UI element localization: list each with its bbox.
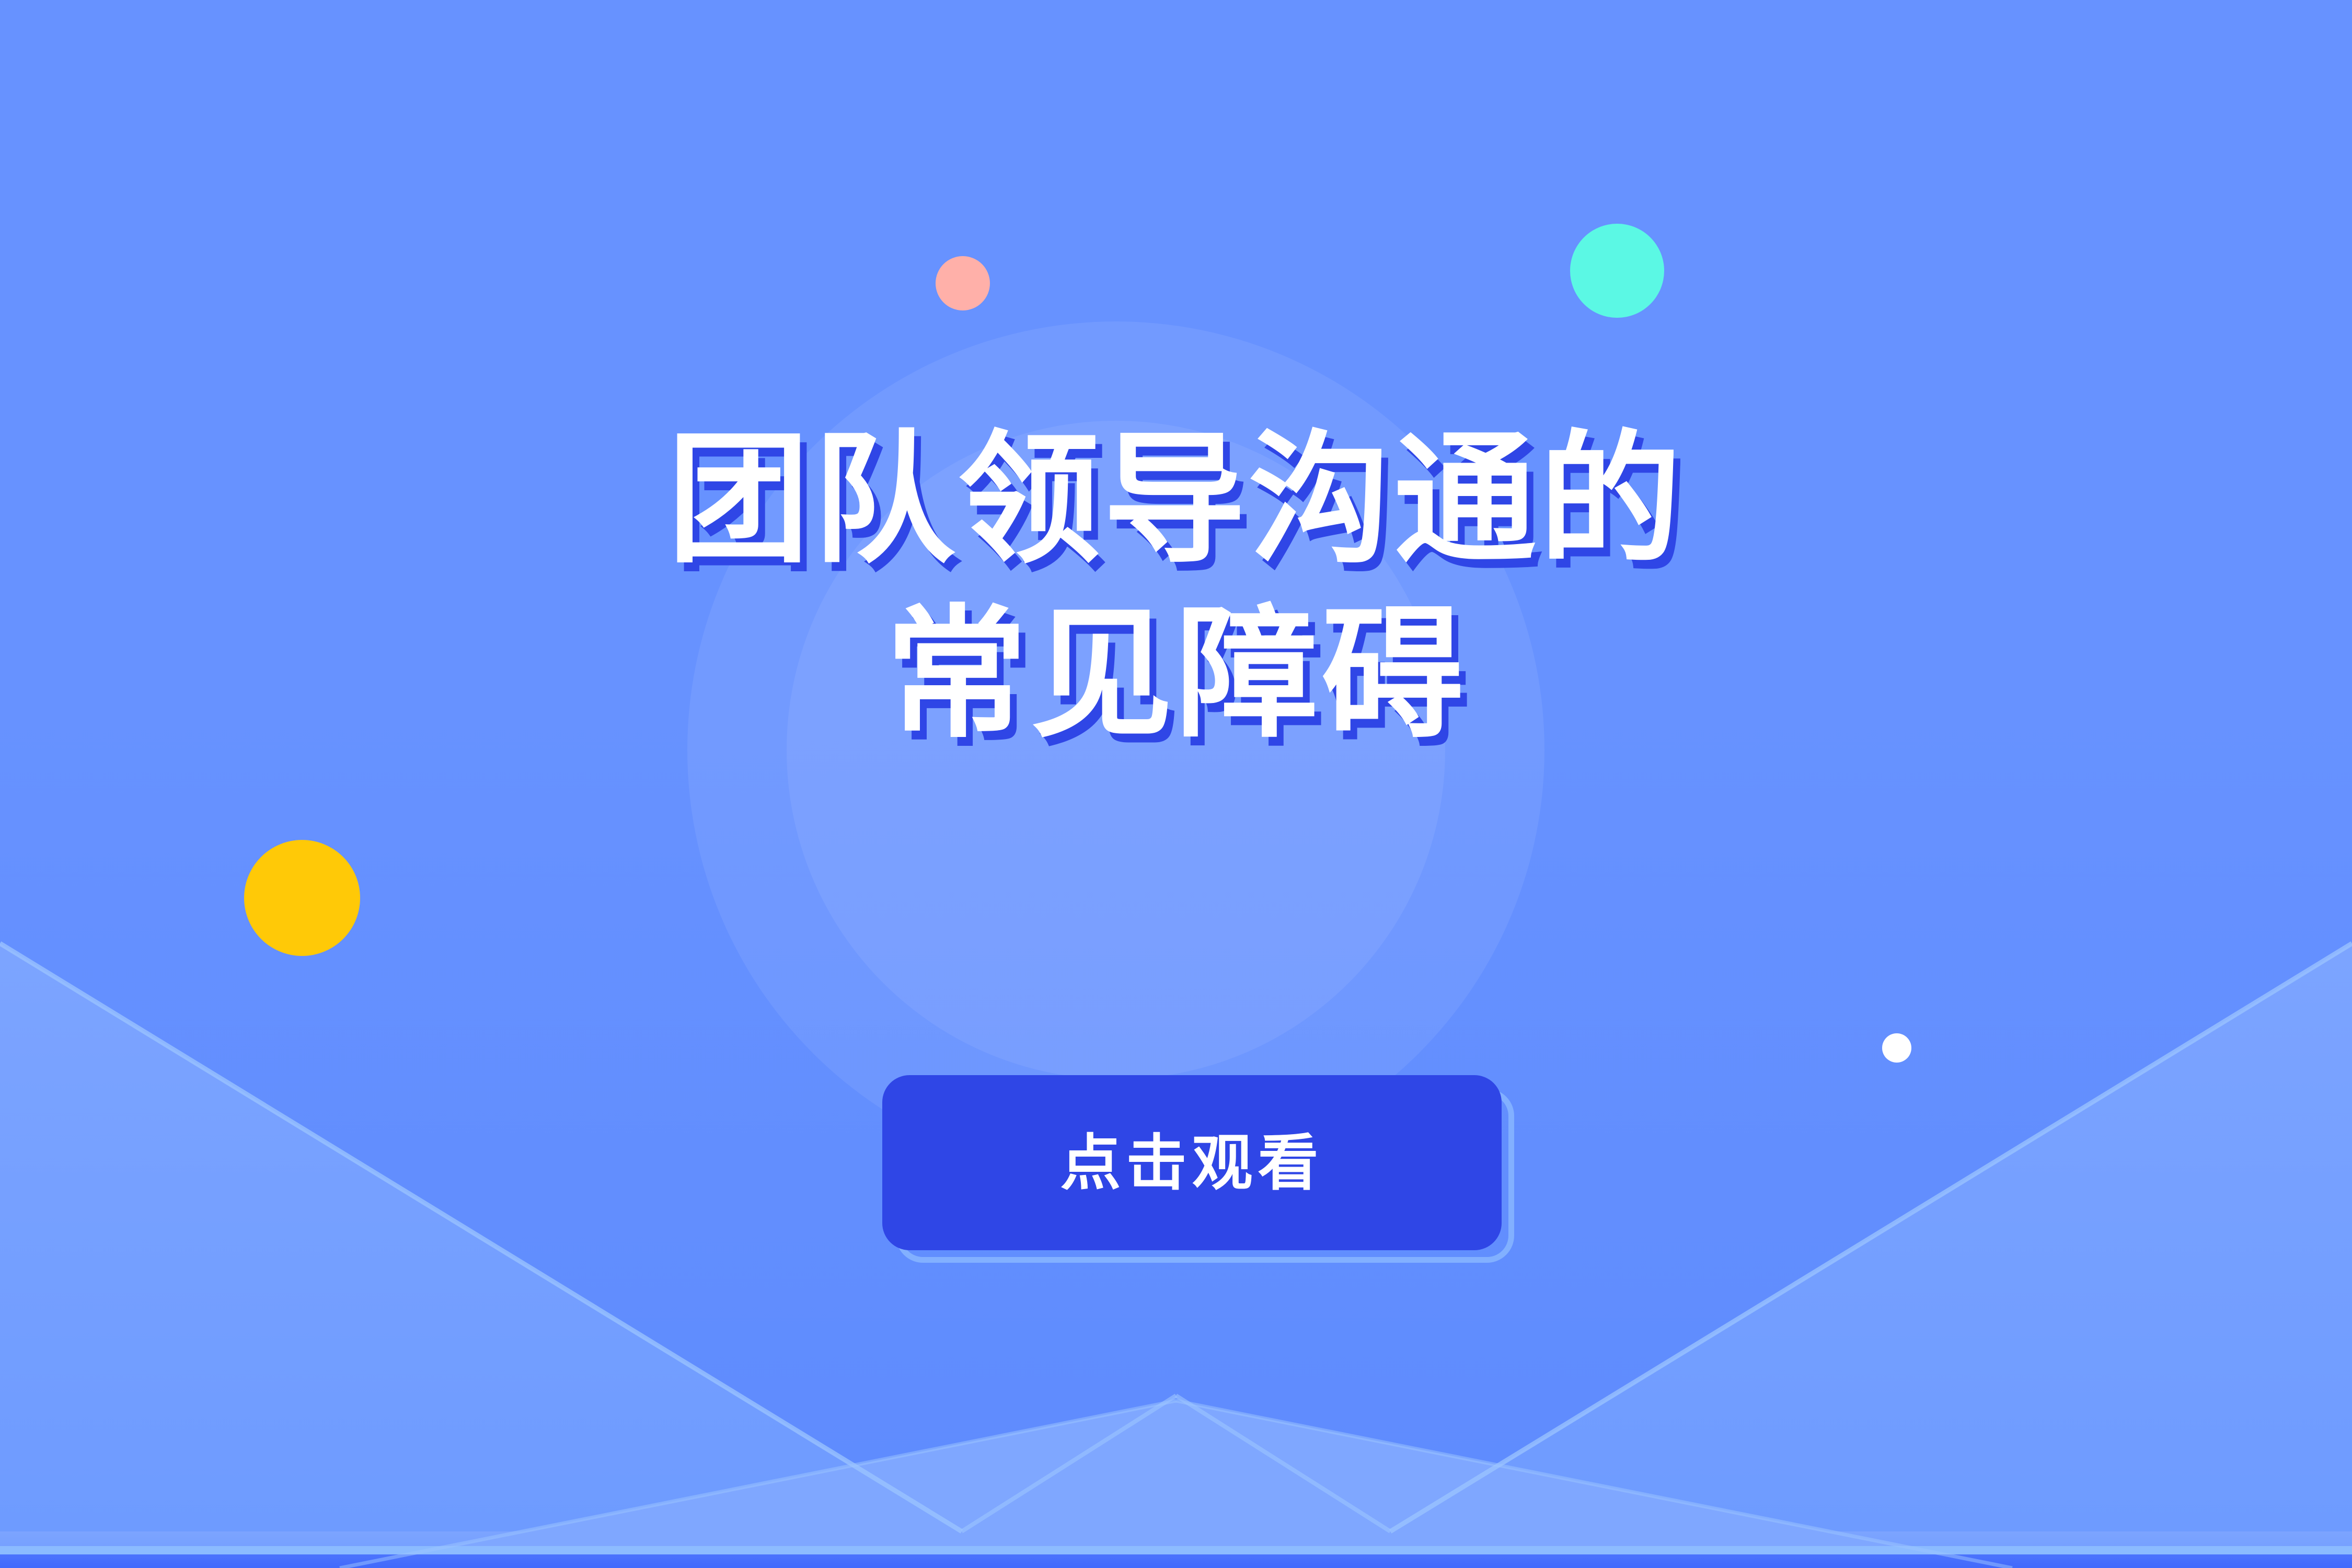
watch-now-button[interactable]: 点击观看 (882, 1075, 1530, 1279)
cta-button-label: 点击观看 (1060, 1133, 1324, 1193)
title-line-2: 常见障碍 (0, 603, 2352, 745)
pink-dot-icon (936, 256, 990, 310)
cta-button-face[interactable]: 点击观看 (882, 1075, 1502, 1250)
white-dot-icon (1882, 1033, 1911, 1063)
cyan-dot-icon (1570, 224, 1664, 318)
title-line-1: 团队领导沟通的 (0, 429, 2352, 571)
poster-canvas: 团队领导沟通的 常见障碍 点击观看 (0, 0, 2352, 1568)
poster-title: 团队领导沟通的 常见障碍 (0, 429, 2352, 745)
yellow-dot-icon (244, 840, 360, 956)
